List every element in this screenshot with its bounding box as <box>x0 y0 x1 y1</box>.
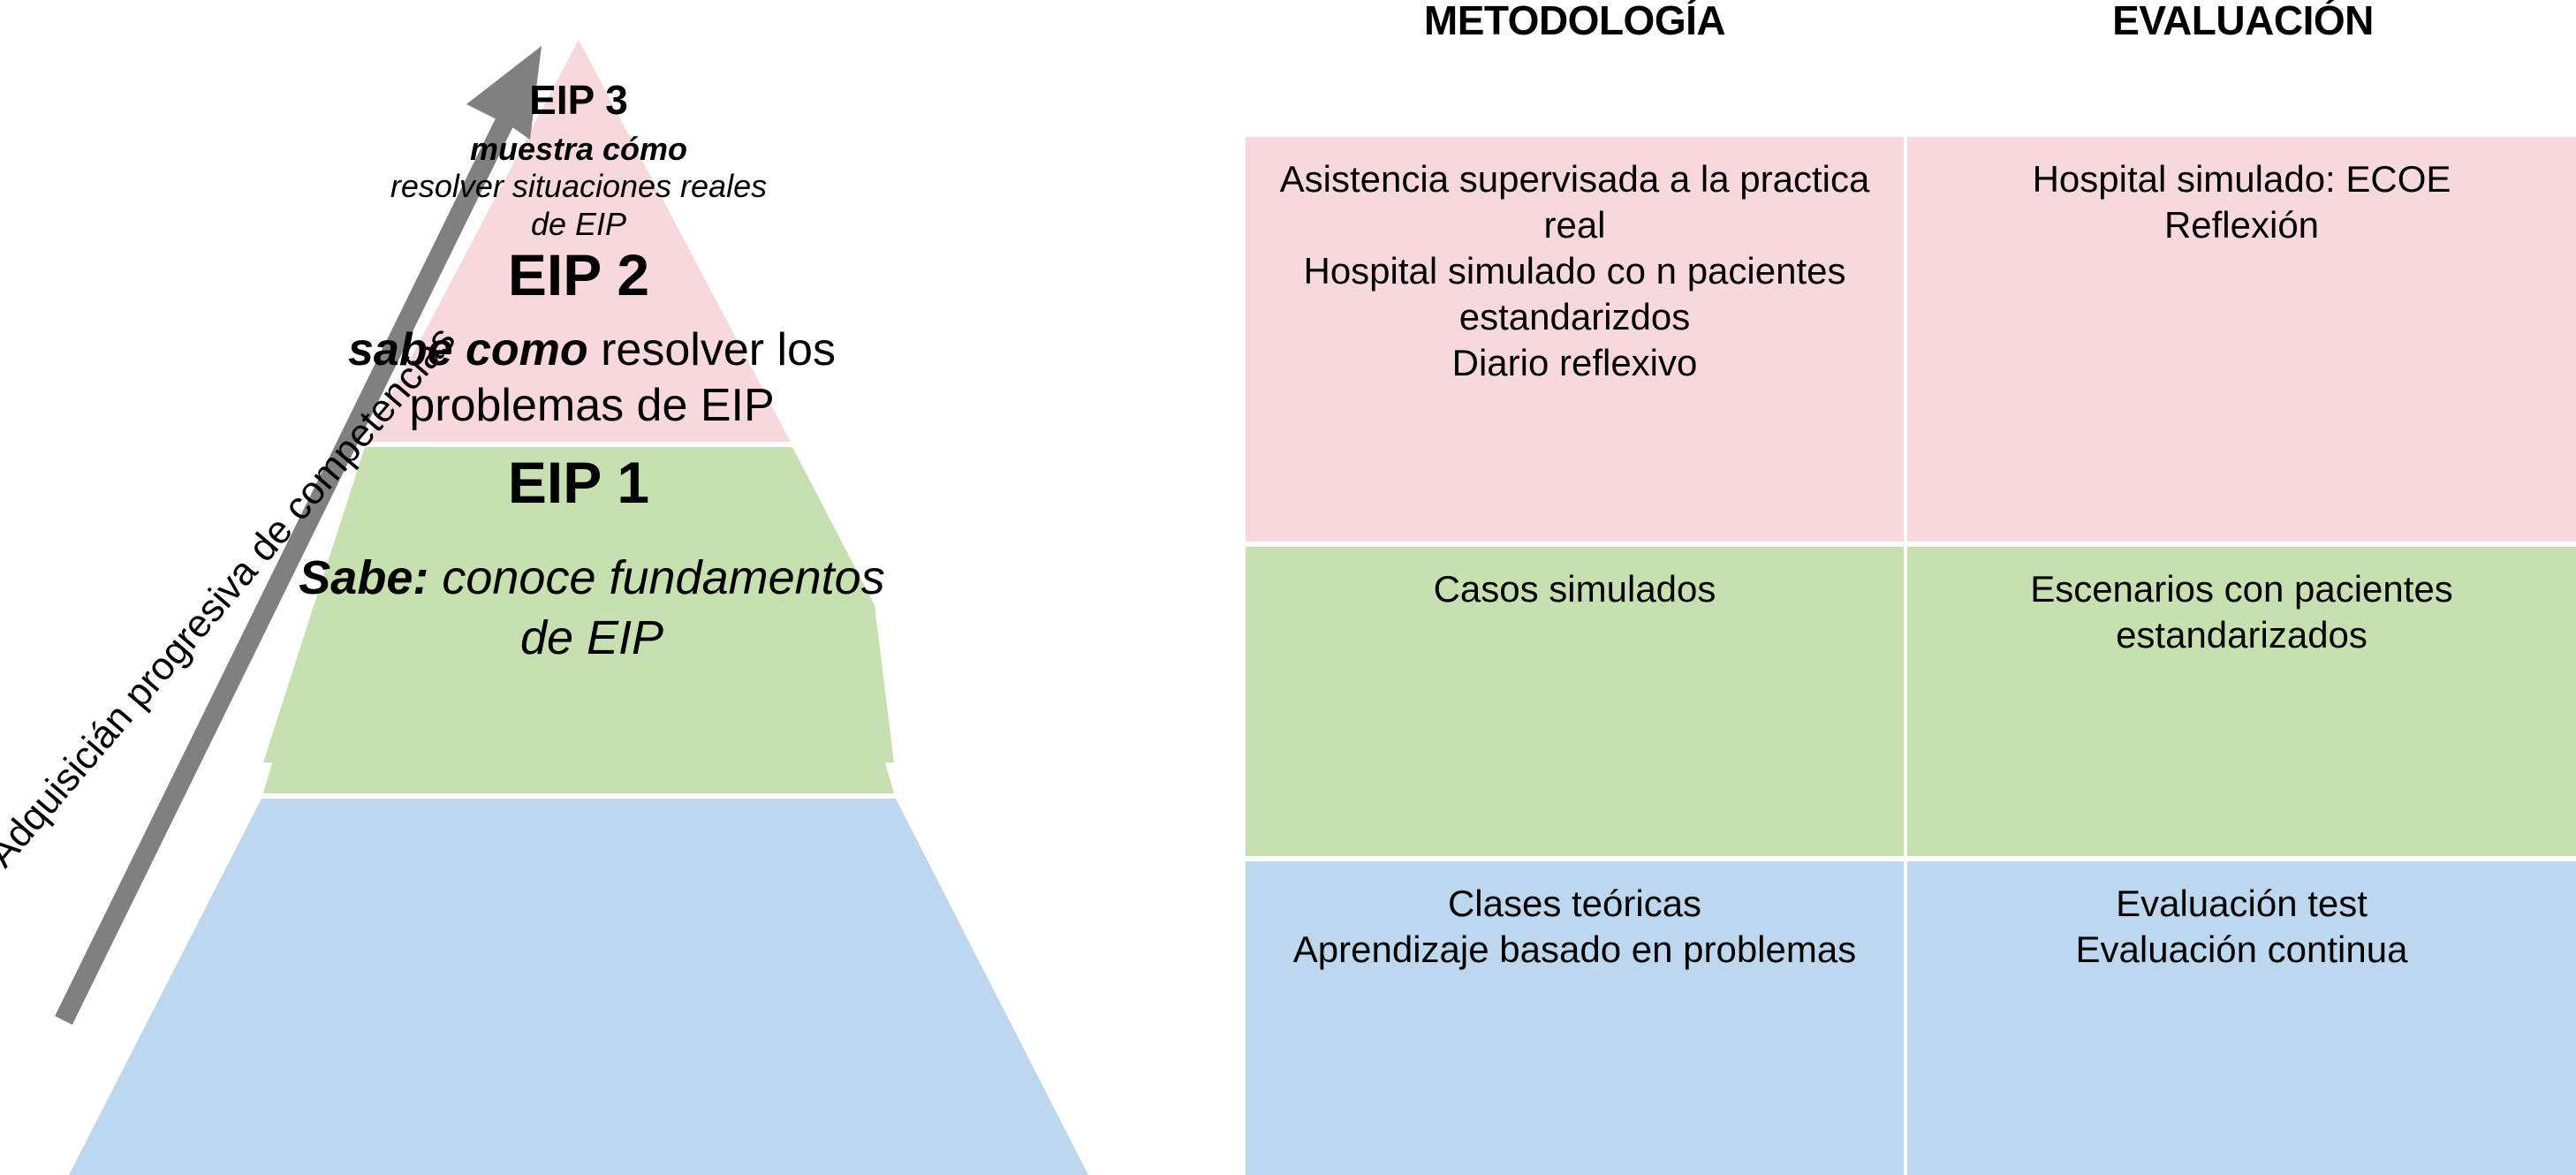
methodology-evaluation-matrix: METODOLOGÍA EVALUACIÓN Asistencia superv… <box>1246 0 2576 1175</box>
column-header-evaluacion: EVALUACIÓN <box>1910 0 2576 44</box>
pyramid-band-eip1 <box>69 799 1088 1175</box>
matrix-cell-eip3-metodologia: Asistencia supervisada a la practica rea… <box>1246 137 1904 542</box>
matrix-cell-eip1-metodologia: Clases teóricasAprendizaje basado en pro… <box>1246 861 1904 1175</box>
slide-canvas: Adquisicián progresiva de competencias E… <box>0 0 2576 1175</box>
matrix-cell-eip2-metodologia: Casos simulados <box>1246 547 1904 856</box>
competency-pyramid: Adquisicián progresiva de competencias E… <box>0 0 1219 1175</box>
pyramid-level-desc-eip2: sabe como resolver los problemas de EIP <box>345 322 839 435</box>
column-header-metodologia: METODOLOGÍA <box>1246 0 1904 44</box>
eip1-desc-strong: Sabe: <box>299 551 428 604</box>
pyramid-level-desc-eip1: Sabe: conoce fundamentos de EIP <box>292 548 892 668</box>
pyramid-level-title-eip3: EIP 3 <box>446 78 711 124</box>
pyramid-level-title-eip1: EIP 1 <box>433 451 724 516</box>
matrix-cell-eip1-evaluacion: Evaluación testEvaluación continua <box>1907 861 2576 1175</box>
matrix-cell-eip2-evaluacion: Escenarios con pacientes estandarizados <box>1907 547 2576 856</box>
eip3-desc-rest: resolver situaciones reales de EIP <box>390 168 767 241</box>
pyramid-level-title-eip2: EIP 2 <box>433 243 724 308</box>
eip2-desc-strong: sabe como <box>348 324 588 375</box>
matrix-cell-eip3-evaluacion: Hospital simulado: ECOEReflexión <box>1907 137 2576 542</box>
eip3-desc-strong: muestra cómo <box>470 131 687 167</box>
eip1-desc-rest: conoce fundamentos de EIP <box>442 551 884 664</box>
matrix-grid: Asistencia supervisada a la practica rea… <box>1246 137 2576 1175</box>
pyramid-level-desc-eip3: muestra cómo resolver situaciones reales… <box>389 131 769 243</box>
